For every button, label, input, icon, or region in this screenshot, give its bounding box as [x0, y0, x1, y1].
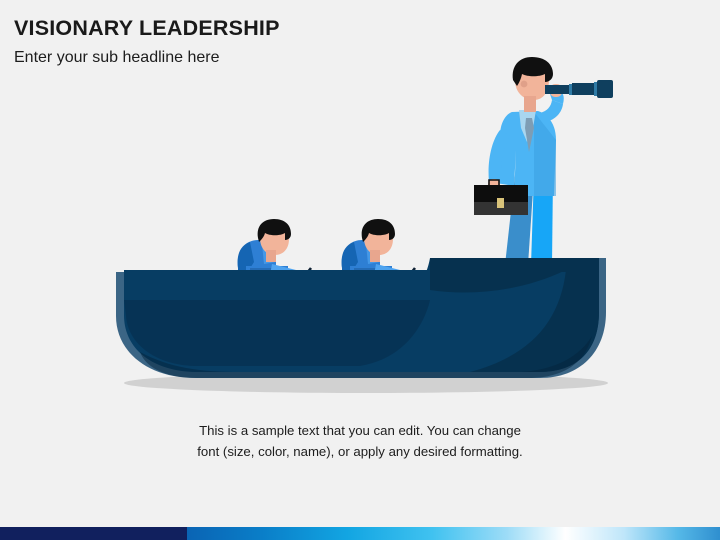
boat-hull-inner-shade: [124, 300, 430, 366]
bottom-accent-bar: [0, 527, 720, 540]
bottom-bar-navy-segment: [0, 527, 187, 540]
slide-canvas: VISIONARY LEADERSHIP Enter your sub head…: [0, 0, 720, 540]
bottom-bar-gradient-segment: [187, 527, 720, 540]
boat: [116, 258, 606, 378]
leader-telescope-arm: [540, 100, 563, 122]
caption-line-2: font (size, color, name), or apply any d…: [0, 441, 720, 462]
telescope-tube-far: [597, 80, 613, 98]
telescope-tube-mid: [572, 83, 596, 95]
leader-ear: [521, 81, 528, 88]
rower-left-neck: [266, 250, 276, 262]
caption-line-1: This is a sample text that you can edit.…: [0, 420, 720, 441]
boat-stern-deck: [430, 258, 599, 272]
telescope-tube-near: [545, 85, 571, 94]
briefcase-clasp: [497, 198, 504, 208]
rower-right-neck: [370, 250, 380, 262]
leader-neck: [524, 96, 536, 112]
standing-leader-with-telescope: [474, 57, 613, 265]
boat-hull-deck: [124, 270, 430, 300]
caption-text: This is a sample text that you can edit.…: [0, 420, 720, 462]
briefcase: [474, 180, 528, 215]
